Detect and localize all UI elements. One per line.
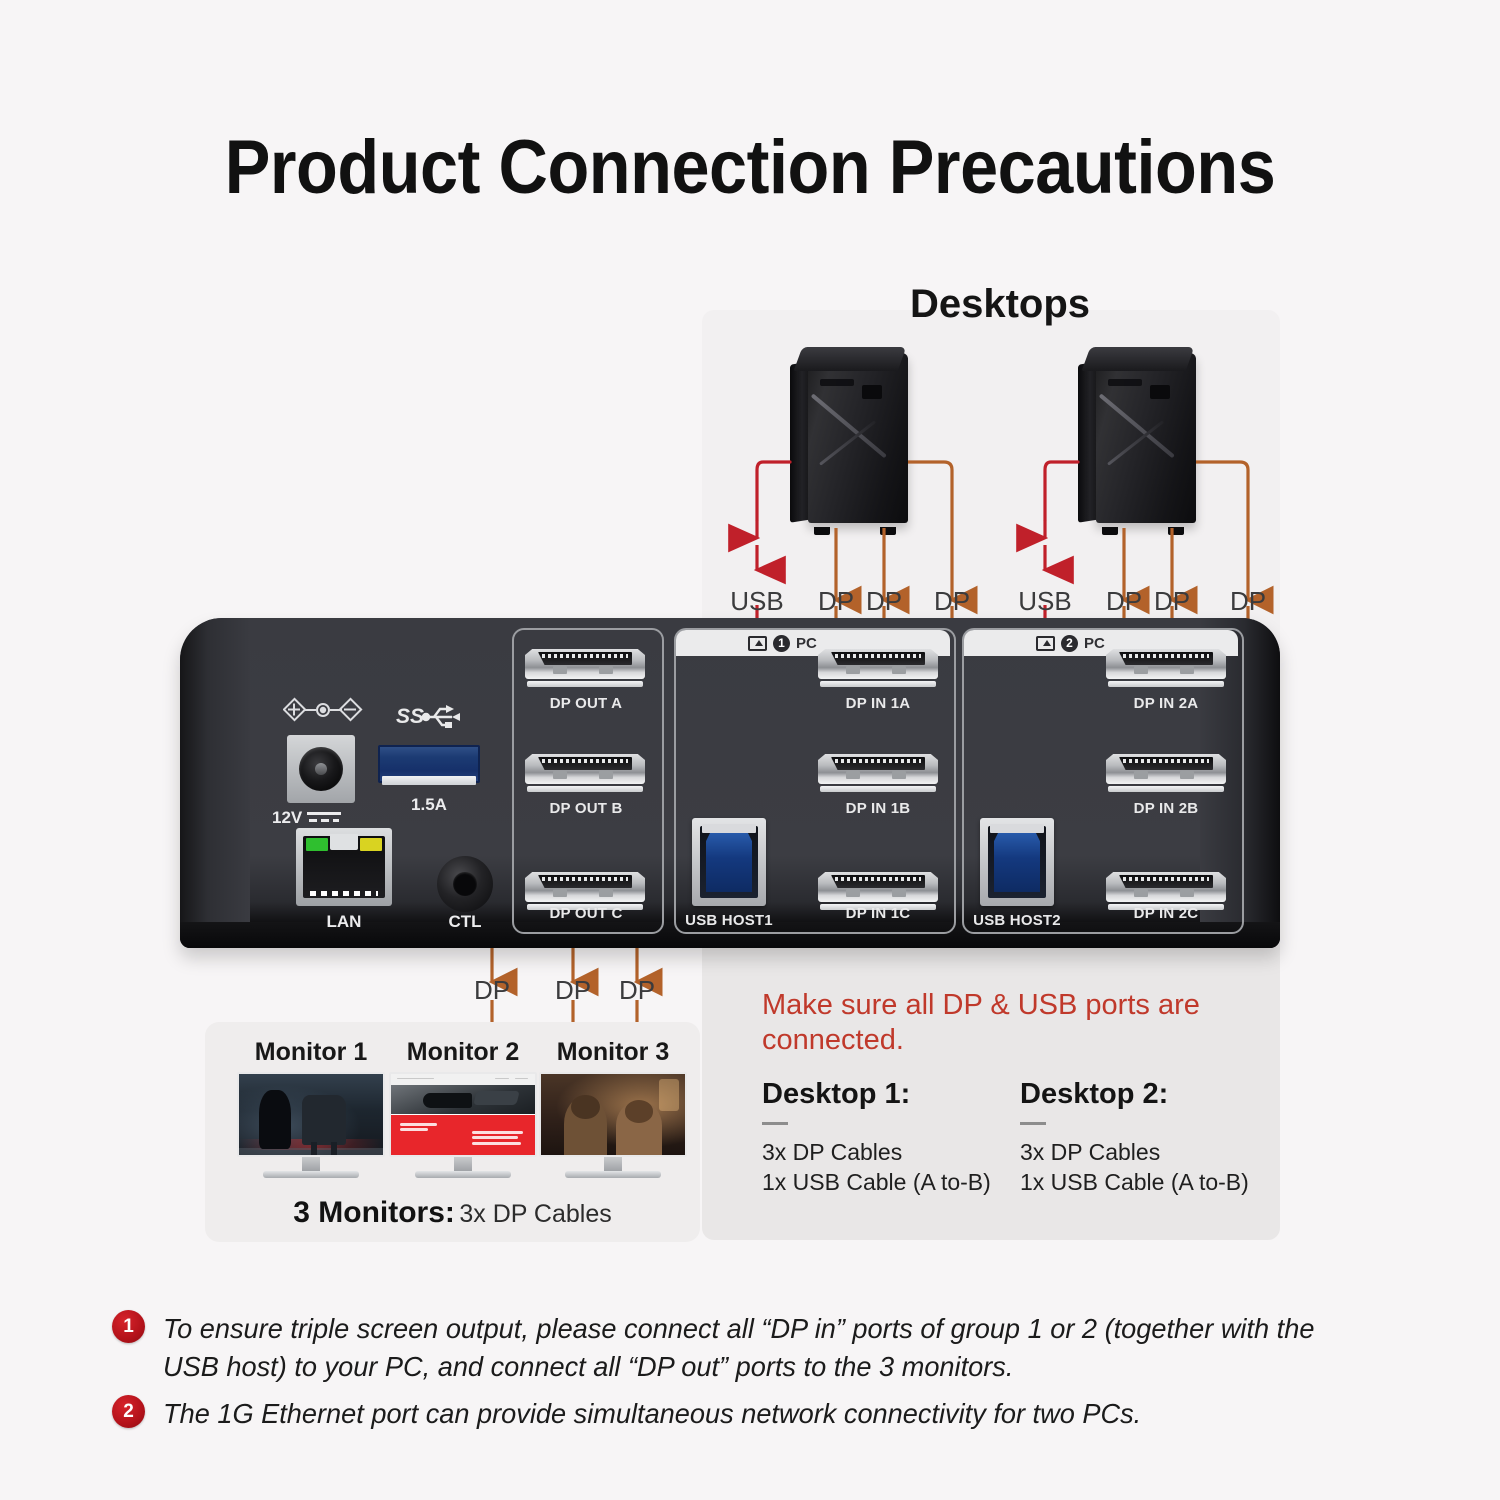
footnote-2-text: The 1G Ethernet port can provide simulta… bbox=[163, 1395, 1141, 1433]
cable-label-out-c: DP bbox=[602, 975, 672, 1006]
cable-label-usb-2: USB bbox=[1005, 586, 1085, 617]
lan-port bbox=[296, 828, 392, 906]
tower-feet bbox=[814, 527, 896, 535]
desktop-2-line-2: 1x USB Cable (A to-B) bbox=[1020, 1168, 1270, 1198]
dp-out-a-label: DP OUT A bbox=[516, 695, 656, 712]
dp-in-1c-port bbox=[818, 868, 938, 910]
dp-in-1a-port bbox=[818, 645, 938, 687]
dp-out-b-port bbox=[525, 750, 645, 792]
dp-in-2a-port bbox=[1106, 645, 1226, 687]
dp-out-a-port bbox=[525, 645, 645, 687]
cable-label-out-b: DP bbox=[538, 975, 608, 1006]
desktop-1-heading: Desktop 1: bbox=[762, 1078, 1012, 1111]
desktop-2-requirements: Desktop 2: 3x DP Cables 1x USB Cable (A … bbox=[1020, 1078, 1270, 1198]
dp-in-2a-label: DP IN 2A bbox=[1096, 695, 1236, 712]
cable-label-dp-1c: DP bbox=[917, 586, 987, 617]
dc-symbol-icon bbox=[307, 810, 341, 824]
desktop-1-line-1: 3x DP Cables bbox=[762, 1138, 1012, 1168]
dp-in-2b-port bbox=[1106, 750, 1226, 792]
monitor-1-title: Monitor 1 bbox=[226, 1038, 396, 1067]
usb-host1-label: USB HOST1 bbox=[668, 912, 790, 929]
monitor-3-title: Monitor 3 bbox=[528, 1038, 698, 1067]
divider bbox=[762, 1122, 788, 1125]
divider bbox=[1020, 1122, 1046, 1125]
usb-a-port bbox=[378, 745, 480, 789]
usb-host1-port bbox=[692, 818, 766, 906]
dc-polarity-icon bbox=[283, 697, 367, 723]
dp-in-1b-label: DP IN 1B bbox=[808, 800, 948, 817]
monitors-caption-bold: 3 Monitors: bbox=[293, 1196, 455, 1229]
svg-text:SS: SS bbox=[396, 705, 424, 728]
dp-in-1c-label: DP IN 1C bbox=[808, 905, 948, 922]
group1-header-text: PC bbox=[796, 635, 817, 652]
dp-out-c-label: DP OUT C bbox=[516, 905, 656, 922]
usb-superspeed-icon: SS bbox=[396, 700, 466, 732]
dp-in-2b-label: DP IN 2B bbox=[1096, 800, 1236, 817]
diagram-canvas: Product Connection Precautions Desktops bbox=[0, 0, 1500, 1500]
cable-label-dp-2c: DP bbox=[1213, 586, 1283, 617]
dc-power-jack bbox=[287, 735, 355, 803]
tower-drive-bay bbox=[862, 385, 882, 399]
desktop-2-heading: Desktop 2: bbox=[1020, 1078, 1270, 1111]
usb-a-current-label: 1.5A bbox=[379, 795, 479, 815]
dp-out-b-label: DP OUT B bbox=[516, 800, 656, 817]
monitors-caption: 3 Monitors: 3x DP Cables bbox=[205, 1196, 700, 1230]
group2-number: 2 bbox=[1061, 635, 1078, 652]
lan-led-yellow bbox=[360, 838, 382, 851]
lan-led-green bbox=[306, 838, 328, 851]
desktop-tower-2 bbox=[1078, 345, 1196, 530]
desktop-tower-1 bbox=[790, 345, 908, 530]
cable-label-dp-2b: DP bbox=[1137, 586, 1207, 617]
tower-top-panel bbox=[1082, 347, 1195, 371]
footnote-2-badge: 2 bbox=[112, 1395, 145, 1428]
tower-vent-icon bbox=[820, 379, 854, 386]
monitor-3-screen bbox=[539, 1072, 687, 1157]
desktops-label: Desktops bbox=[855, 282, 1145, 327]
desktop-1-requirements: Desktop 1: 3x DP Cables 1x USB Cable (A … bbox=[762, 1078, 1012, 1198]
monitor-icon bbox=[1036, 636, 1055, 651]
monitors-caption-normal: 3x DP Cables bbox=[459, 1200, 611, 1228]
monitor-2-screen bbox=[389, 1072, 537, 1157]
monitor-icon bbox=[748, 636, 767, 651]
monitor-2-title: Monitor 2 bbox=[378, 1038, 548, 1067]
dp-in-1a-label: DP IN 1A bbox=[808, 695, 948, 712]
tower-feet bbox=[1102, 527, 1184, 535]
device-left-bevel bbox=[180, 618, 250, 948]
usb-host2-port bbox=[980, 818, 1054, 906]
dp-in-2c-port bbox=[1106, 868, 1226, 910]
tower-drive-bay bbox=[1150, 385, 1170, 399]
monitor-1 bbox=[237, 1072, 385, 1178]
connection-warning: Make sure all DP & USB ports are connect… bbox=[762, 988, 1232, 1059]
footnote-1-text: To ensure triple screen output, please c… bbox=[163, 1310, 1365, 1385]
power-voltage-label: 12V bbox=[272, 808, 370, 828]
monitor-2 bbox=[389, 1072, 537, 1178]
footnote-2: 2 The 1G Ethernet port can provide simul… bbox=[112, 1395, 1402, 1433]
ctl-label: CTL bbox=[415, 912, 515, 932]
monitor-3 bbox=[539, 1072, 687, 1178]
monitor-1-screen bbox=[237, 1072, 385, 1157]
ctl-jack bbox=[437, 856, 493, 912]
lan-label: LAN bbox=[294, 912, 394, 932]
group1-number: 1 bbox=[773, 635, 790, 652]
page-title: Product Connection Precautions bbox=[75, 124, 1425, 211]
dp-out-c-port bbox=[525, 868, 645, 910]
dp-in-2c-label: DP IN 2C bbox=[1096, 905, 1236, 922]
group2-header-text: PC bbox=[1084, 635, 1105, 652]
cable-label-dp-1b: DP bbox=[849, 586, 919, 617]
desktop-2-line-1: 3x DP Cables bbox=[1020, 1138, 1270, 1168]
cable-label-out-a: DP bbox=[457, 975, 527, 1006]
tower-vent-icon bbox=[1108, 379, 1142, 386]
dp-in-1b-port bbox=[818, 750, 938, 792]
tower-top-panel bbox=[794, 347, 907, 371]
usb-host2-label: USB HOST2 bbox=[956, 912, 1078, 929]
footnote-1: 1 To ensure triple screen output, please… bbox=[112, 1310, 1402, 1385]
cable-label-usb-1: USB bbox=[717, 586, 797, 617]
footnote-1-badge: 1 bbox=[112, 1310, 145, 1343]
desktop-1-line-2: 1x USB Cable (A to-B) bbox=[762, 1168, 1012, 1198]
